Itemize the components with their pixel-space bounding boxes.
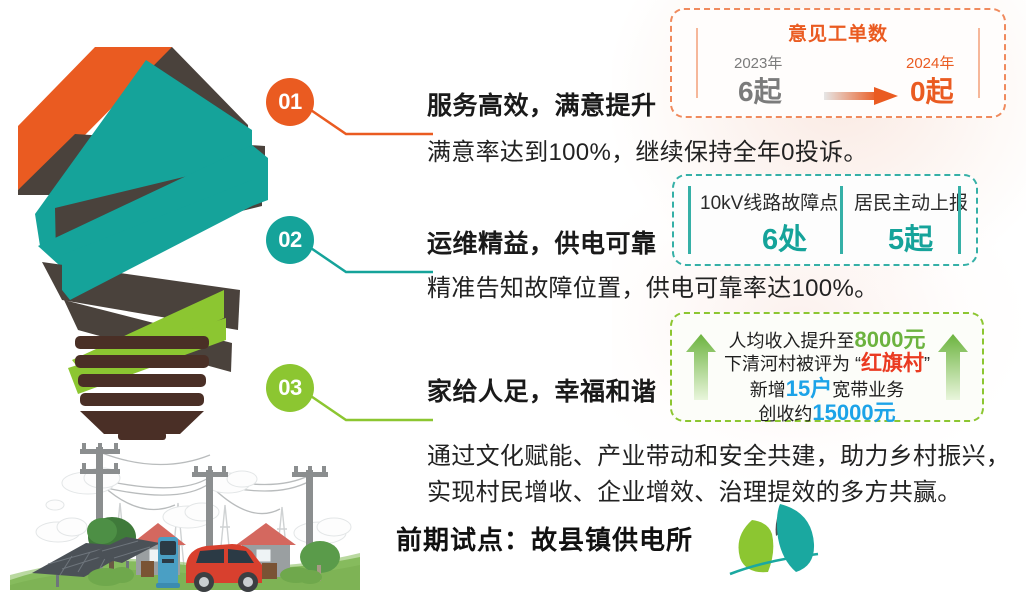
right-arrow-gradient-icon — [824, 87, 898, 105]
card-opinion-workorders: 意见工单数 2023年 6起 2024年 0起 — [670, 8, 1006, 118]
slide-canvas: 01 服务高效，满意提升 满意率达到100%，继续保持全年0投诉。 意见工单数 … — [0, 0, 1026, 596]
row-03-body-line1: 通过文化赋能、产业带动和安全共建，助力乡村振兴， — [427, 436, 1010, 471]
card-village-benefits: 人均收入提升至8000元 下清河村被评为 “红旗村” 新增15户宽带业务 创收约… — [670, 312, 984, 422]
card2-value-2: 5起 — [888, 216, 933, 258]
row-02-heading: 运维精益，供电可靠 — [427, 224, 657, 260]
card2-value-1: 6处 — [762, 216, 807, 258]
row-01-heading: 服务高效，满意提升 — [427, 86, 657, 122]
card1-left-rule — [696, 28, 698, 98]
row-03-body-line2: 实现村民增收、企业增效、治理提效的多方共赢。 — [427, 472, 962, 507]
rural-power-village-scene-icon — [10, 425, 360, 596]
card-maintenance-stats: 10kV线路故障点 6处 居民主动上报 5起 — [672, 174, 978, 266]
leader-line-02 — [300, 238, 435, 278]
card2-rule-1 — [688, 186, 691, 254]
card1-title: 意见工单数 — [672, 19, 1004, 46]
footer-title: 前期试点：故县镇供电所 — [396, 520, 693, 557]
card2-rule-3 — [958, 186, 961, 254]
row-02-body: 精准告知故障位置，供电可靠率达100%。 — [427, 268, 878, 303]
card3-line-4: 创收约15000元 — [672, 395, 982, 427]
leader-line-03 — [300, 386, 435, 426]
card3-line-4-pre: 创收约 — [758, 404, 812, 424]
card3-line-4-highlight: 15000元 — [812, 400, 895, 425]
card2-label-2: 居民主动上报 — [854, 188, 968, 215]
card2-rule-2 — [840, 186, 843, 254]
card1-left-value: 6起 — [738, 70, 782, 110]
row-01-body: 满意率达到100%，继续保持全年0投诉。 — [427, 132, 868, 167]
green-teal-leaf-logo-icon — [726, 500, 826, 580]
row-03-heading: 家给人足，幸福和谐 — [427, 372, 657, 408]
leader-line-01 — [300, 100, 435, 140]
card1-right-value: 0起 — [910, 70, 954, 110]
card1-right-rule — [978, 28, 980, 98]
card2-label-1: 10kV线路故障点 — [700, 188, 838, 215]
